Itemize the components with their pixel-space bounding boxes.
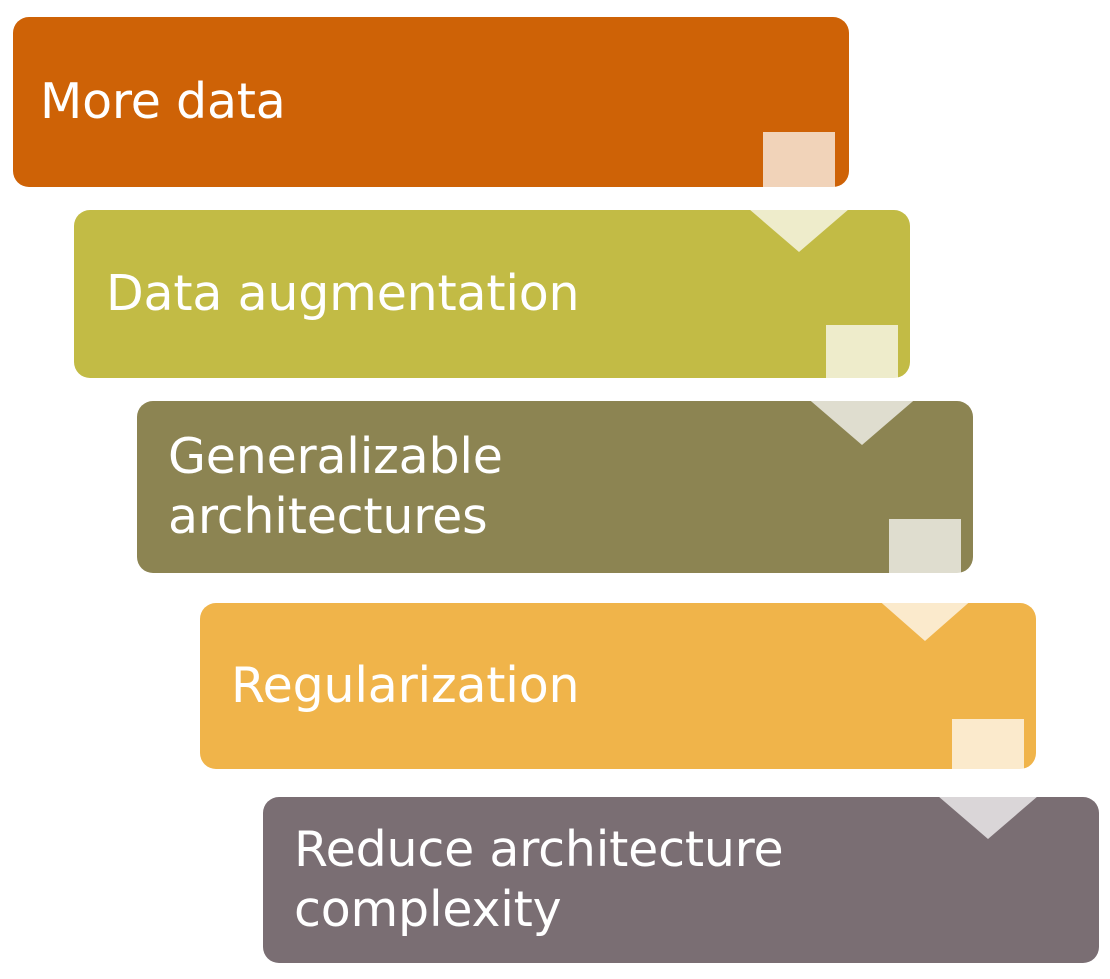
step-label-reduce-architecture-complexity: Reduce architecture complexity <box>263 820 1099 940</box>
step-box-data-augmentation[interactable]: Data augmentation <box>74 210 910 378</box>
step-box-generalizable-architectures[interactable]: Generalizable architectures <box>137 401 973 573</box>
step-box-reduce-architecture-complexity[interactable]: Reduce architecture complexity <box>263 797 1099 963</box>
step-label-generalizable-architectures: Generalizable architectures <box>137 427 973 547</box>
step-box-regularization[interactable]: Regularization <box>200 603 1036 769</box>
step-label-regularization: Regularization <box>200 656 1036 716</box>
step-box-more-data[interactable]: More data <box>13 17 849 187</box>
step-label-more-data: More data <box>13 72 849 132</box>
diagram-canvas: More data Data augmentation Generalizabl… <box>0 0 1110 979</box>
step-label-data-augmentation: Data augmentation <box>74 264 910 324</box>
